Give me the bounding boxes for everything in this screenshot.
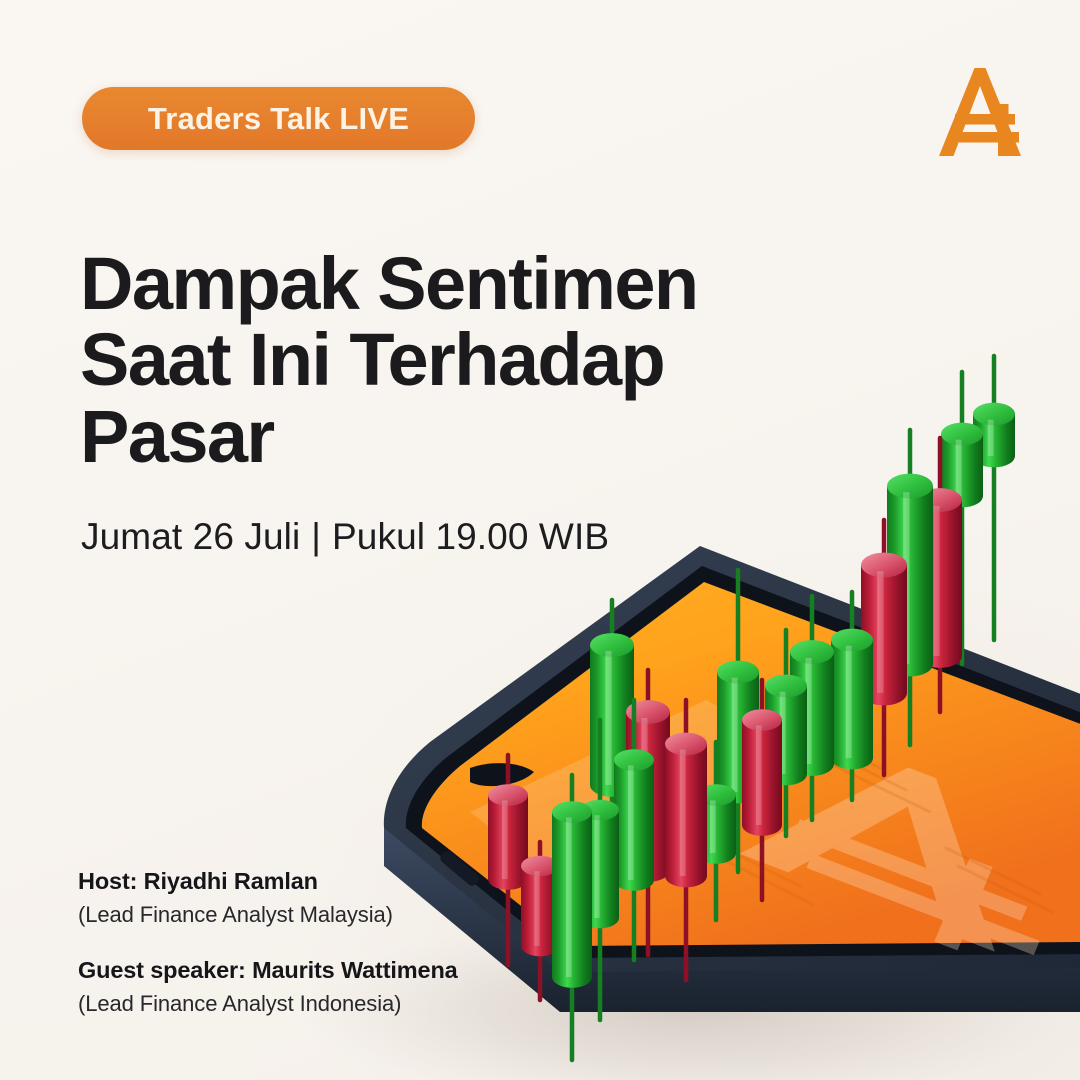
speaker-host-name: Host: Riyadhi Ramlan [78,866,458,897]
candle [742,680,782,900]
page-title: Dampak Sentimen Saat Ini Terhadap Pasar [80,246,800,476]
candle [590,600,634,860]
speaker-guest: Guest speaker: Maurits Wattimena (Lead F… [78,955,458,1018]
candle [861,520,907,775]
schedule-time: Pukul 19.00 WIB [332,516,609,557]
candle [918,438,962,712]
candle [831,592,873,800]
brand-a-logo-icon [935,62,1031,162]
candle [626,670,670,955]
candle [696,742,736,920]
candle [552,775,592,1060]
speaker-guest-role: (Lead Finance Analyst Indonesia) [78,989,458,1019]
speaker-guest-name: Guest speaker: Maurits Wattimena [78,955,458,986]
headline-line-3: Pasar [80,399,800,476]
live-badge-label: Traders Talk LIVE [148,101,409,137]
schedule-line: Jumat 26 Juli|Pukul 19.00 WIB [81,516,609,558]
candle [581,720,619,1020]
candle [973,356,1015,640]
candle [521,842,559,1000]
candle [717,570,759,872]
candle [765,630,807,836]
candle [665,700,707,980]
speaker-host-role: (Lead Finance Analyst Malaysia) [78,900,458,930]
speaker-host: Host: Riyadhi Ramlan (Lead Finance Analy… [78,866,458,929]
phone-device [384,546,1080,1012]
candle [887,430,933,745]
headline-line-2: Saat Ini Terhadap [80,322,800,399]
candle [941,372,983,664]
candle [488,755,528,965]
headline-line-1: Dampak Sentimen [80,246,800,323]
candle [614,700,654,960]
live-badge: Traders Talk LIVE [82,87,475,150]
candle [790,596,834,820]
speakers-block: Host: Riyadhi Ramlan (Lead Finance Analy… [78,866,458,1018]
poster-canvas: Traders Talk LIVE Dampak Sentimen Saat I… [0,0,1080,1080]
schedule-separator: | [311,516,321,558]
schedule-date: Jumat 26 Juli [81,516,300,557]
